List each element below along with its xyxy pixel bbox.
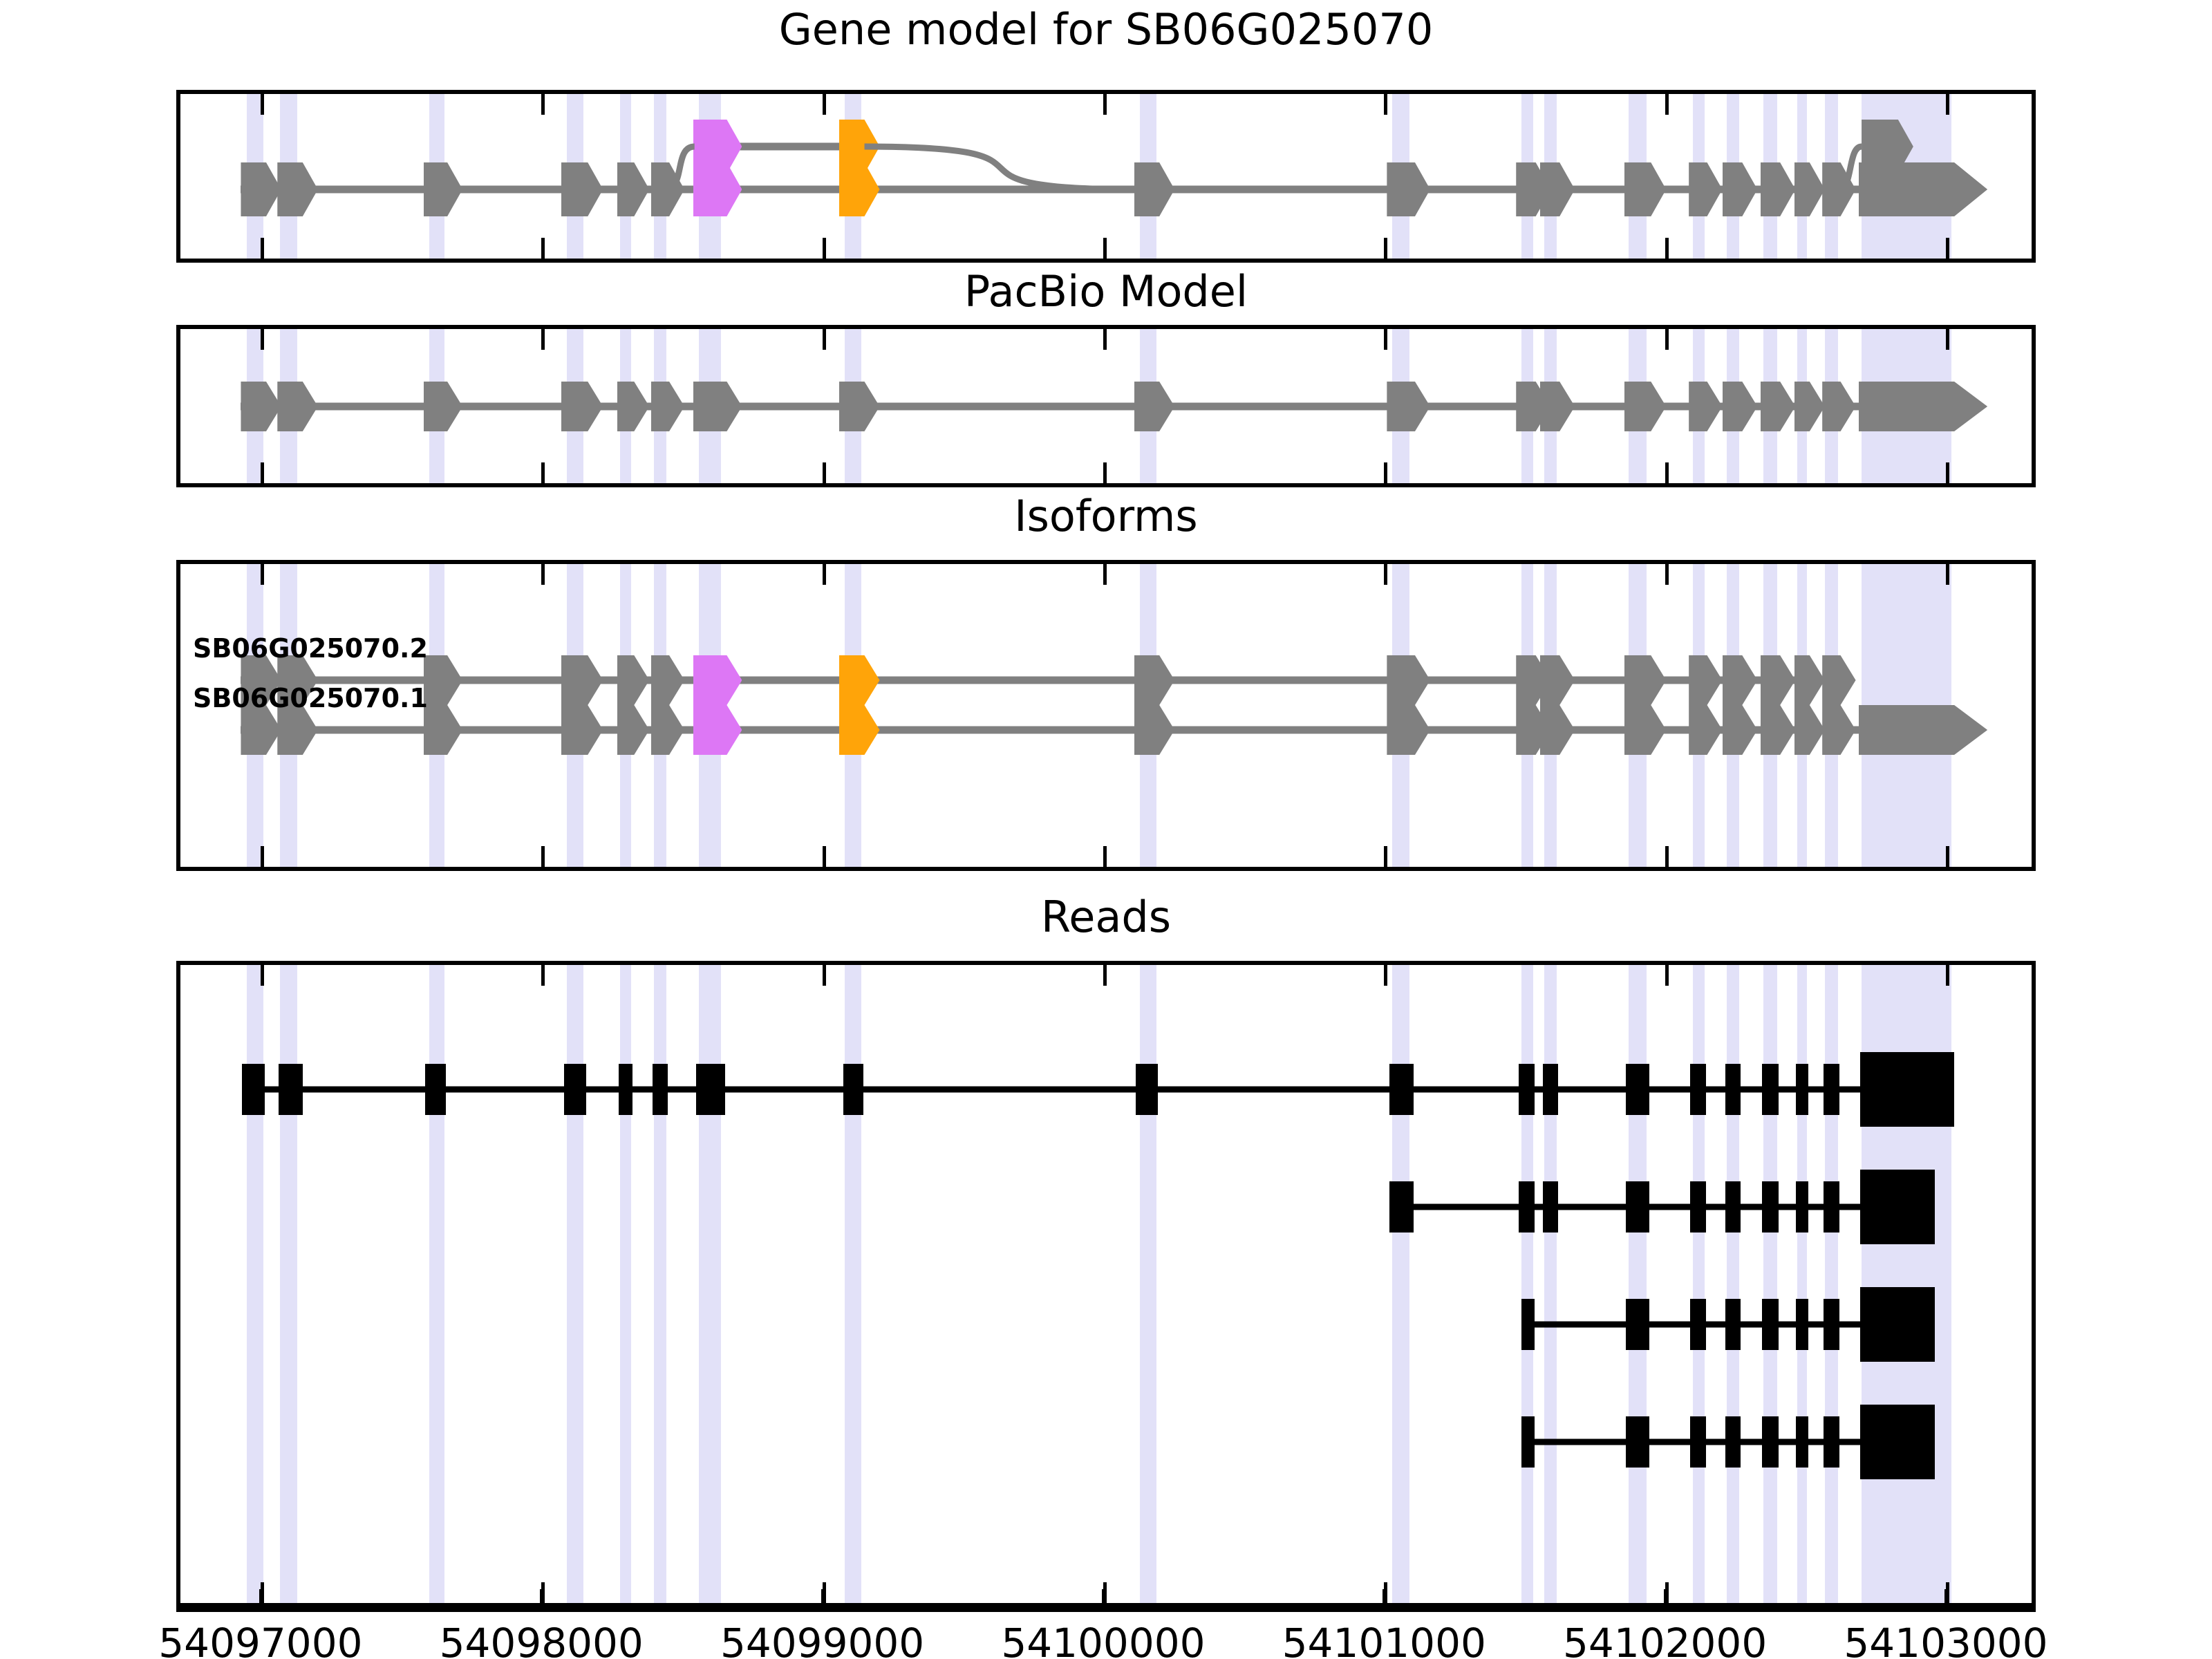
read-exon-block xyxy=(1690,1416,1705,1468)
panel-tick-bottom xyxy=(541,238,545,259)
panel-tick-top xyxy=(1946,329,1949,350)
exon-gray xyxy=(1723,382,1757,431)
exon-gray xyxy=(1723,655,1757,705)
panel-tick-bottom xyxy=(1384,238,1387,259)
x-axis-tick-label: 54100000 xyxy=(1001,1620,1205,1659)
panel-tick-top xyxy=(261,564,264,585)
panel-title-reads: Reads xyxy=(0,892,2212,942)
panel-tick-top xyxy=(541,329,545,350)
read-exon-block xyxy=(1725,1416,1741,1468)
exon-gray xyxy=(1624,655,1667,705)
exon-gray xyxy=(1624,382,1667,431)
read-exon-block xyxy=(1860,1405,1935,1479)
exon-gray xyxy=(1134,382,1175,431)
highlight-band xyxy=(280,965,297,1603)
exon-gray xyxy=(1624,162,1667,216)
panel-tick-top xyxy=(1384,564,1387,585)
exon-gray xyxy=(1689,382,1722,431)
read-exon-block xyxy=(242,1064,265,1115)
read-exon-block xyxy=(564,1064,587,1115)
x-axis-tick-label: 54097000 xyxy=(158,1620,362,1659)
highlight-band xyxy=(845,965,861,1603)
read-exon-block xyxy=(1690,1064,1705,1115)
genome-browser-figure: Gene model for SB06G025070PacBio ModelIs… xyxy=(0,0,2212,1659)
plot-area-reads xyxy=(180,965,2032,1603)
read-exon-block xyxy=(1824,1299,1839,1350)
read-exon-block xyxy=(653,1064,668,1115)
panel-tick-top xyxy=(1103,965,1107,986)
x-axis-tick xyxy=(1664,1589,1667,1607)
panel-tick-bottom xyxy=(1665,846,1669,867)
exon-magenta xyxy=(693,162,742,216)
exon-gray xyxy=(561,382,603,431)
highlight-band xyxy=(1521,965,1533,1603)
read-exon-block xyxy=(1690,1299,1705,1350)
plot-area-pacbio xyxy=(180,329,2032,483)
highlight-band xyxy=(1392,965,1409,1603)
exon-gray xyxy=(277,162,318,216)
read-exon-block xyxy=(1626,1181,1650,1232)
read-exon-block xyxy=(696,1064,726,1115)
read-exon-block xyxy=(1796,1064,1808,1115)
panel-isoforms: SB06G025070.2SB06G025070.1 xyxy=(176,560,2036,871)
panel-tick-top xyxy=(261,329,264,350)
x-axis-tick xyxy=(821,1589,825,1607)
exon-gray xyxy=(1387,705,1430,755)
highlight-band xyxy=(1629,965,1647,1603)
panel-tick-bottom xyxy=(541,462,545,483)
isoform-label-2: SB06G025070.1 xyxy=(193,683,428,713)
exon-gray xyxy=(1859,382,1987,431)
x-axis-tick xyxy=(1382,1589,1386,1607)
panel-tick-top xyxy=(541,94,545,115)
exon-gray xyxy=(651,382,684,431)
panel-tick-bottom xyxy=(1103,462,1107,483)
x-axis-line xyxy=(176,1607,2036,1612)
panel-tick-top xyxy=(541,564,545,585)
exon-magenta xyxy=(693,655,742,705)
panel-tick-bottom xyxy=(1103,846,1107,867)
read-exon-block xyxy=(1796,1181,1808,1232)
x-axis-tick-label: 54098000 xyxy=(440,1620,644,1659)
read-exon-block xyxy=(619,1064,632,1115)
exon-gray xyxy=(1134,162,1175,216)
exon-gray xyxy=(651,162,684,216)
panel-tick-top xyxy=(1665,965,1669,986)
intron-line xyxy=(241,677,1840,684)
exon-orange xyxy=(839,162,880,216)
read-exon-block xyxy=(1762,1064,1779,1115)
highlight-band xyxy=(654,965,666,1603)
exon-gray xyxy=(1689,705,1722,755)
read-exon-block xyxy=(1762,1299,1779,1350)
x-axis-tick-label: 54102000 xyxy=(1563,1620,1767,1659)
read-exon-block xyxy=(1796,1299,1808,1350)
highlight-band xyxy=(620,965,631,1603)
read-exon-block xyxy=(843,1064,863,1115)
highlight-band xyxy=(1140,965,1156,1603)
read-exon-block xyxy=(1860,1170,1935,1244)
exon-gray xyxy=(1689,162,1722,216)
panel-tick-bottom xyxy=(823,462,826,483)
panel-tick-bottom xyxy=(261,462,264,483)
panel-tick-bottom xyxy=(1384,462,1387,483)
highlight-band xyxy=(429,965,444,1603)
panel-tick-top xyxy=(823,329,826,350)
exon-gray xyxy=(651,655,684,705)
read-exon-block xyxy=(1389,1064,1414,1115)
exon-gray xyxy=(241,162,281,216)
panel-tick-bottom xyxy=(1665,462,1669,483)
panel-tick-top xyxy=(261,94,264,115)
read-exon-block xyxy=(425,1064,446,1115)
panel-tick-top xyxy=(1103,329,1107,350)
panel-tick-bottom xyxy=(823,846,826,867)
panel-tick-top xyxy=(823,564,826,585)
isoform-label-1: SB06G025070.2 xyxy=(193,633,428,664)
panel-title-gene_model: Gene model for SB06G025070 xyxy=(0,4,2212,55)
highlight-band xyxy=(1544,965,1557,1603)
exon-gray xyxy=(839,382,880,431)
panel-tick-top xyxy=(1665,94,1669,115)
exon-gray xyxy=(277,382,318,431)
read-exon-block xyxy=(1626,1064,1650,1115)
exon-gray xyxy=(1134,655,1175,705)
panel-tick-bottom xyxy=(261,846,264,867)
x-axis-tick-label: 54099000 xyxy=(720,1620,924,1659)
exon-orange xyxy=(839,655,880,705)
x-axis-tick-label: 54103000 xyxy=(1844,1620,2047,1659)
x-axis-tick xyxy=(1944,1589,1948,1607)
panel-tick-bottom xyxy=(1384,846,1387,867)
highlight-band xyxy=(1727,965,1739,1603)
exon-gray xyxy=(241,382,281,431)
panel-tick-top xyxy=(1665,564,1669,585)
panel-reads xyxy=(176,961,2036,1607)
exon-gray xyxy=(561,705,603,755)
exon-gray xyxy=(1387,162,1430,216)
plot-area-isoforms: SB06G025070.2SB06G025070.1 xyxy=(180,564,2032,867)
read-exon-block xyxy=(1860,1287,1935,1362)
exon-gray xyxy=(1794,382,1825,431)
plot-area-gene_model xyxy=(180,94,2032,259)
panel-tick-bottom xyxy=(1946,238,1949,259)
read-exon-block xyxy=(1725,1181,1741,1232)
panel-pacbio xyxy=(176,325,2036,487)
exon-gray xyxy=(1540,162,1575,216)
panel-tick-bottom xyxy=(1946,846,1949,867)
exon-gray xyxy=(561,162,603,216)
exon-gray xyxy=(1859,705,1987,755)
read-exon-block xyxy=(1824,1181,1839,1232)
read-exon-block xyxy=(1626,1299,1650,1350)
read-exon-block xyxy=(1136,1064,1159,1115)
exon-gray xyxy=(1689,655,1722,705)
exon-gray xyxy=(424,655,463,705)
highlight-band xyxy=(247,965,263,1603)
exon-gray xyxy=(424,382,463,431)
exon-gray xyxy=(424,705,463,755)
exon-gray xyxy=(1822,162,1855,216)
panel-tick-top xyxy=(1103,564,1107,585)
panel-tick-top xyxy=(1946,564,1949,585)
x-axis-tick xyxy=(1102,1589,1105,1607)
exon-gray xyxy=(1540,655,1575,705)
panel-tick-bottom xyxy=(1665,238,1669,259)
exon-gray xyxy=(1624,705,1667,755)
exon-gray xyxy=(424,162,463,216)
highlight-band xyxy=(1825,965,1837,1603)
exon-gray xyxy=(1822,655,1855,705)
panel-tick-top xyxy=(823,94,826,115)
exon-gray xyxy=(1761,162,1795,216)
read-exon-block xyxy=(1796,1416,1808,1468)
exon-gray xyxy=(617,705,649,755)
panel-tick-top xyxy=(541,965,545,986)
x-axis-tick xyxy=(540,1589,543,1607)
read-exon-block xyxy=(1543,1181,1558,1232)
exon-gray xyxy=(1822,382,1855,431)
exon-gray xyxy=(1761,655,1795,705)
exon-gray xyxy=(1723,162,1757,216)
read-exon-block xyxy=(1762,1181,1779,1232)
highlight-band xyxy=(567,965,583,1603)
panel-title-isoforms: Isoforms xyxy=(0,491,2212,541)
read-exon-block xyxy=(1626,1416,1650,1468)
read-exon-block xyxy=(1824,1064,1839,1115)
highlight-band xyxy=(1693,965,1704,1603)
exon-magenta xyxy=(693,705,742,755)
exon-gray xyxy=(617,162,649,216)
exon-gray xyxy=(617,382,649,431)
gene-model-splice-curves xyxy=(180,94,2036,263)
read-exon-block xyxy=(1860,1052,1954,1127)
exon-gray xyxy=(1723,705,1757,755)
panel-title-pacbio: PacBio Model xyxy=(0,266,2212,317)
read-exon-block xyxy=(1389,1181,1414,1232)
panel-tick-top xyxy=(1946,965,1949,986)
highlight-band xyxy=(1763,965,1777,1603)
read-exon-block xyxy=(1521,1299,1534,1350)
read-connector-line xyxy=(1389,1204,1934,1210)
panel-tick-bottom xyxy=(823,238,826,259)
read-exon-block xyxy=(279,1064,303,1115)
exon-orange xyxy=(839,705,880,755)
highlight-band xyxy=(1797,965,1807,1603)
exon-gray xyxy=(1794,705,1825,755)
exon-gray xyxy=(1134,705,1175,755)
panel-tick-bottom xyxy=(1946,462,1949,483)
exon-gray xyxy=(651,705,684,755)
panel-tick-top xyxy=(1103,94,1107,115)
read-exon-block xyxy=(1824,1416,1839,1468)
exon-gray xyxy=(1387,382,1430,431)
read-exon-block xyxy=(1543,1064,1558,1115)
exon-gray xyxy=(1794,162,1825,216)
exon-gray xyxy=(617,655,649,705)
read-exon-block xyxy=(1725,1299,1741,1350)
exon-gray xyxy=(1761,705,1795,755)
exon-gray xyxy=(1822,705,1855,755)
exon-gray xyxy=(1387,655,1430,705)
exon-gray xyxy=(1540,382,1575,431)
panel-tick-top xyxy=(1946,94,1949,115)
read-exon-block xyxy=(1519,1181,1534,1232)
exon-gray xyxy=(561,655,603,705)
panel-tick-bottom xyxy=(541,846,545,867)
panel-tick-top xyxy=(1384,329,1387,350)
read-exon-block xyxy=(1690,1181,1705,1232)
panel-tick-bottom xyxy=(261,238,264,259)
read-exon-block xyxy=(1521,1416,1534,1468)
x-axis-tick xyxy=(259,1589,263,1607)
highlight-band xyxy=(699,965,722,1603)
panel-tick-top xyxy=(1384,94,1387,115)
panel-tick-top xyxy=(823,965,826,986)
exon-gray xyxy=(1761,382,1795,431)
read-exon-block xyxy=(1725,1064,1741,1115)
panel-tick-top xyxy=(1665,329,1669,350)
panel-tick-top xyxy=(261,965,264,986)
read-exon-block xyxy=(1519,1064,1534,1115)
panel-tick-top xyxy=(1384,965,1387,986)
x-axis-tick-label: 54101000 xyxy=(1282,1620,1486,1659)
panel-tick-bottom xyxy=(1103,238,1107,259)
exon-gray xyxy=(1540,705,1575,755)
exon-gray xyxy=(693,382,742,431)
read-exon-block xyxy=(1762,1416,1779,1468)
panel-gene_model xyxy=(176,90,2036,263)
exon-gray xyxy=(1794,655,1825,705)
